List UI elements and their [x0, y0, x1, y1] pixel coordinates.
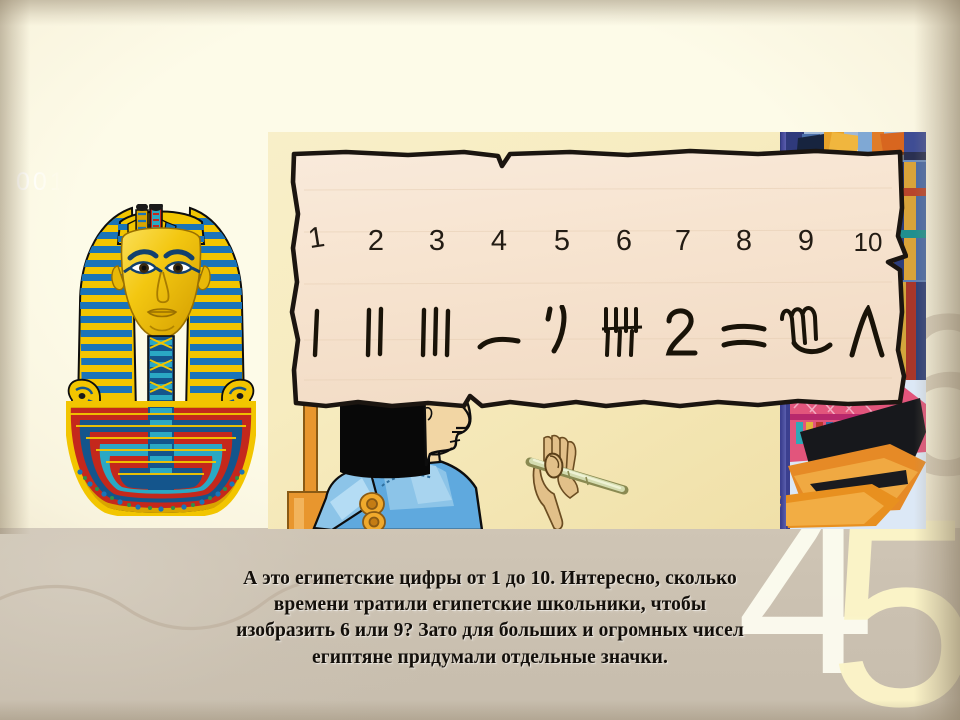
vignette-right	[914, 0, 960, 720]
tutankhamun-death-mask	[66, 204, 256, 516]
hand-holding-reed-pen	[520, 432, 630, 529]
caption-line-4: египтяне придумали отдельные значки.	[140, 645, 840, 671]
caption-line-3: изобразить 6 или 9? Зато для больших и о…	[140, 618, 840, 644]
vignette-top	[0, 0, 960, 26]
slide-caption: А это египетские цифры от 1 до 10. Интер…	[140, 566, 840, 671]
vignette-left	[0, 0, 30, 534]
egyptian-numerals-picture: 1 2 3 4 5 6 7 8 9 10	[268, 132, 926, 529]
caption-line-1: А это египетские цифры от 1 до 10. Интер…	[140, 566, 840, 592]
broad-collar-usekh	[68, 404, 254, 516]
vignette-bottom	[0, 700, 960, 720]
papyrus-sheet: 1 2 3 4 5 6 7 8 9 10	[288, 144, 908, 412]
caption-line-2: времени тратили египетские школьники, чт…	[140, 592, 840, 618]
slide-canvas: 6 4 5 0011	[0, 0, 960, 720]
papyrus-sheet-shape	[288, 144, 908, 412]
